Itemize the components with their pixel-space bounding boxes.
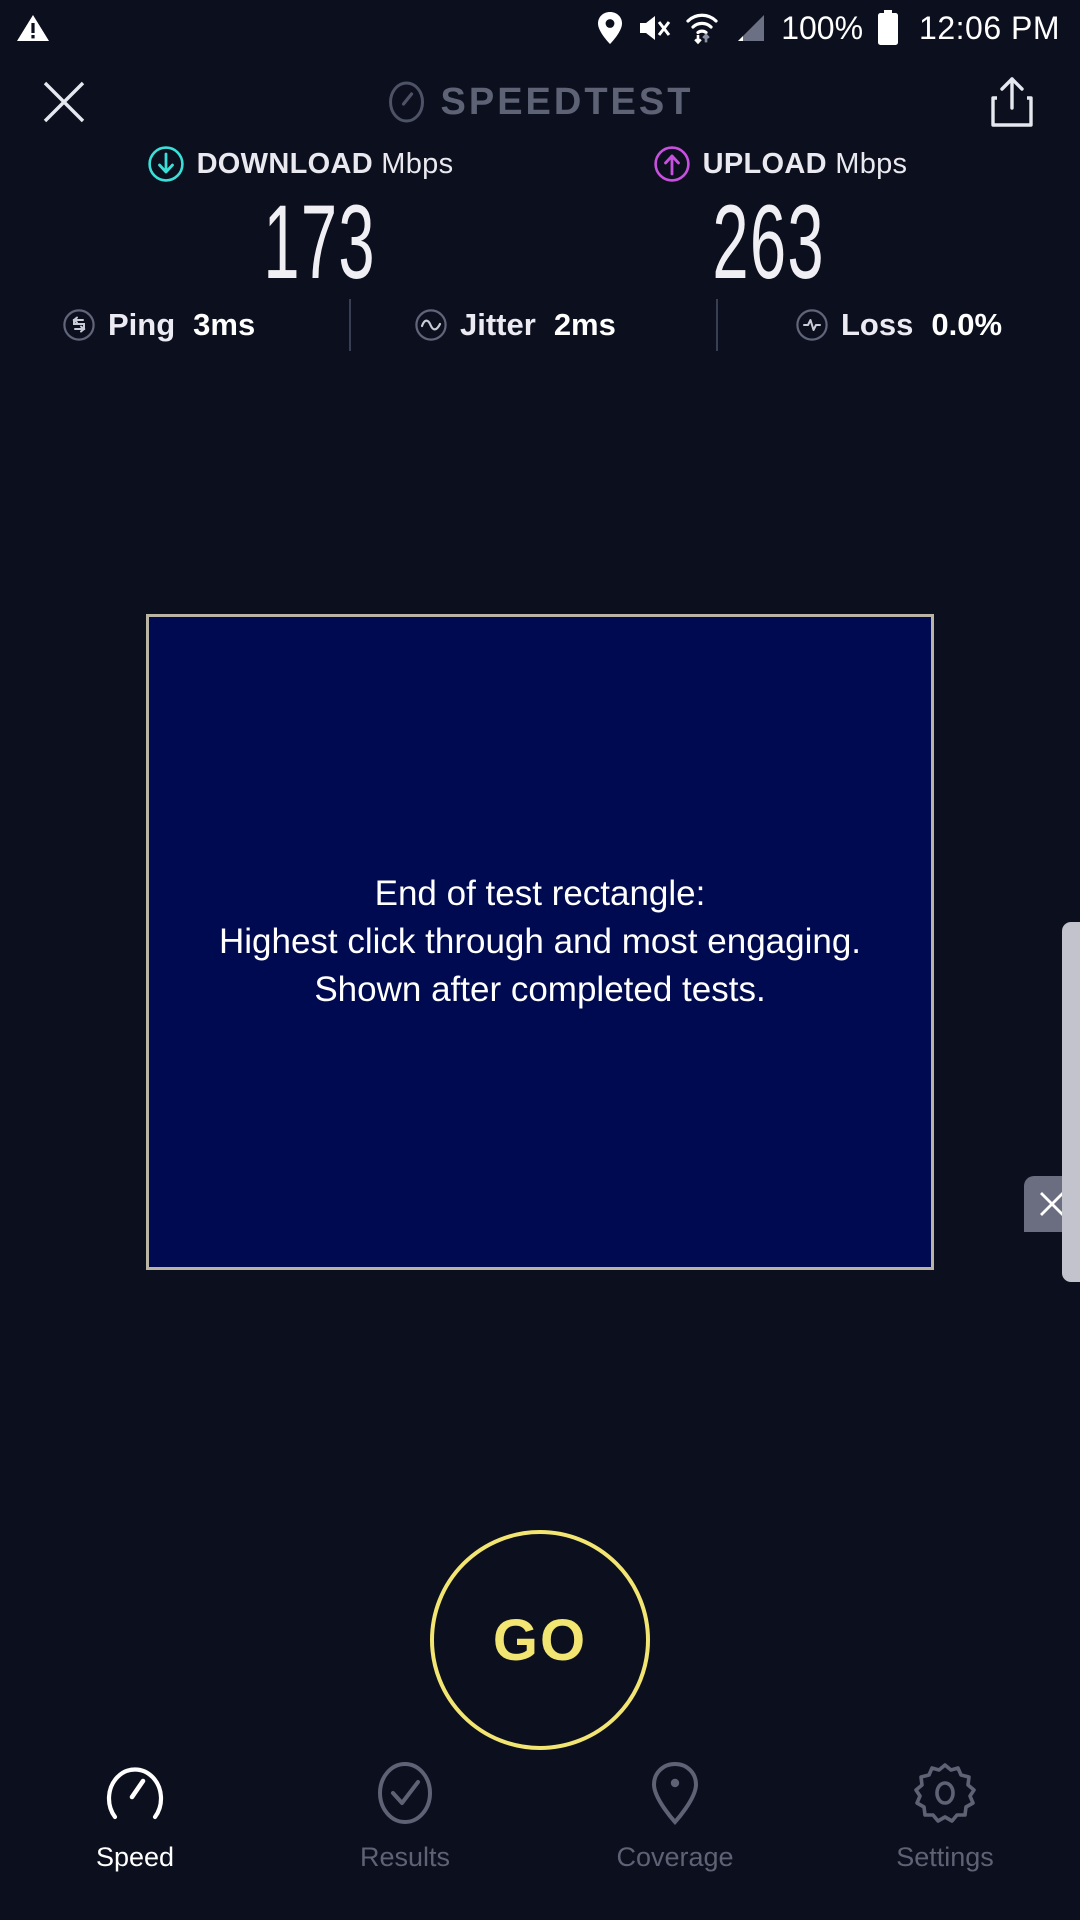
jitter-metric: Jitter 2ms	[414, 307, 616, 343]
upload-value: 263	[713, 190, 825, 295]
advertisement-text: End of test rectangle: Highest click thr…	[146, 614, 934, 1270]
download-label-row: DOWNLOAD Mbps	[147, 142, 454, 186]
download-metric: DOWNLOAD Mbps 173	[90, 142, 510, 295]
nav-label-coverage: Coverage	[616, 1842, 733, 1873]
upload-metric: UPLOAD Mbps 263	[570, 142, 990, 295]
upload-arrow-circle-icon	[653, 145, 691, 183]
nav-label-speed: Speed	[96, 1842, 174, 1873]
download-upload-row: DOWNLOAD Mbps 173 UPLOAD Mbps 263	[0, 142, 1080, 295]
share-button[interactable]	[986, 73, 1038, 131]
loss-value: 0.0%	[931, 307, 1002, 343]
app-title-group: SPEEDTEST	[387, 80, 694, 124]
speedometer-icon	[102, 1760, 168, 1826]
nav-item-results[interactable]: Results	[270, 1760, 540, 1873]
page-title: SPEEDTEST	[441, 81, 694, 124]
battery-full-icon	[877, 10, 899, 46]
wifi-transfer-icon	[685, 11, 719, 45]
jitter-value: 2ms	[554, 307, 616, 343]
ad-line-2: Highest click through and most engaging.	[219, 918, 861, 966]
check-circle-icon	[372, 1760, 438, 1826]
advertisement-container[interactable]: End of test rectangle: Highest click thr…	[146, 614, 934, 1270]
cellular-signal-icon	[733, 13, 767, 43]
nav-item-settings[interactable]: Settings	[810, 1760, 1080, 1873]
download-arrow-circle-icon	[147, 145, 185, 183]
location-pin-icon	[597, 11, 623, 45]
bottom-navigation: Speed Results Coverage Settings	[0, 1752, 1080, 1920]
download-label: DOWNLOAD Mbps	[197, 148, 454, 181]
scrollbar[interactable]	[1062, 922, 1080, 1282]
go-button-label: GO	[493, 1607, 587, 1674]
battery-percent-label: 100%	[781, 10, 863, 47]
map-pin-icon	[642, 1760, 708, 1826]
loss-label: Loss	[841, 307, 913, 343]
warning-triangle-icon	[16, 13, 50, 43]
status-bar-clock: 12:06 PM	[919, 10, 1060, 47]
ping-value: 3ms	[193, 307, 255, 343]
go-button[interactable]: GO	[430, 1530, 650, 1750]
ping-metric: Ping 3ms	[62, 307, 255, 343]
nav-item-speed[interactable]: Speed	[0, 1760, 270, 1873]
close-x-icon	[41, 79, 87, 125]
divider-2	[716, 299, 718, 351]
download-value: 173	[264, 190, 376, 295]
advertisement-banner[interactable]: End of test rectangle: Highest click thr…	[146, 614, 934, 1270]
gear-icon	[912, 1760, 978, 1826]
close-button[interactable]	[38, 76, 90, 128]
ping-jitter-loss-row: Ping 3ms Jitter 2ms Loss 0.0%	[0, 295, 1080, 355]
jitter-label: Jitter	[460, 307, 536, 343]
results-summary: DOWNLOAD Mbps 173 UPLOAD Mbps 263	[0, 142, 1080, 295]
status-bar-left	[16, 13, 50, 43]
divider-1	[349, 299, 351, 351]
upload-label-row: UPLOAD Mbps	[653, 142, 908, 186]
ad-line-1: End of test rectangle:	[375, 870, 706, 918]
nav-label-results: Results	[360, 1842, 450, 1873]
app-header: SPEEDTEST	[0, 62, 1080, 142]
ping-arrows-circle-icon	[62, 308, 96, 342]
loss-dash-circle-icon	[795, 308, 829, 342]
upload-label: UPLOAD Mbps	[703, 148, 908, 181]
status-bar: 100% 12:06 PM	[0, 0, 1080, 56]
volume-mute-icon	[637, 13, 671, 43]
ping-label: Ping	[108, 307, 175, 343]
nav-label-settings: Settings	[896, 1842, 994, 1873]
ad-line-3: Shown after completed tests.	[314, 966, 765, 1014]
speedometer-logo-icon	[387, 80, 427, 124]
status-bar-right: 100% 12:06 PM	[597, 10, 1060, 47]
nav-item-coverage[interactable]: Coverage	[540, 1760, 810, 1873]
share-upload-icon	[990, 76, 1034, 128]
jitter-wave-circle-icon	[414, 308, 448, 342]
loss-metric: Loss 0.0%	[795, 307, 1002, 343]
